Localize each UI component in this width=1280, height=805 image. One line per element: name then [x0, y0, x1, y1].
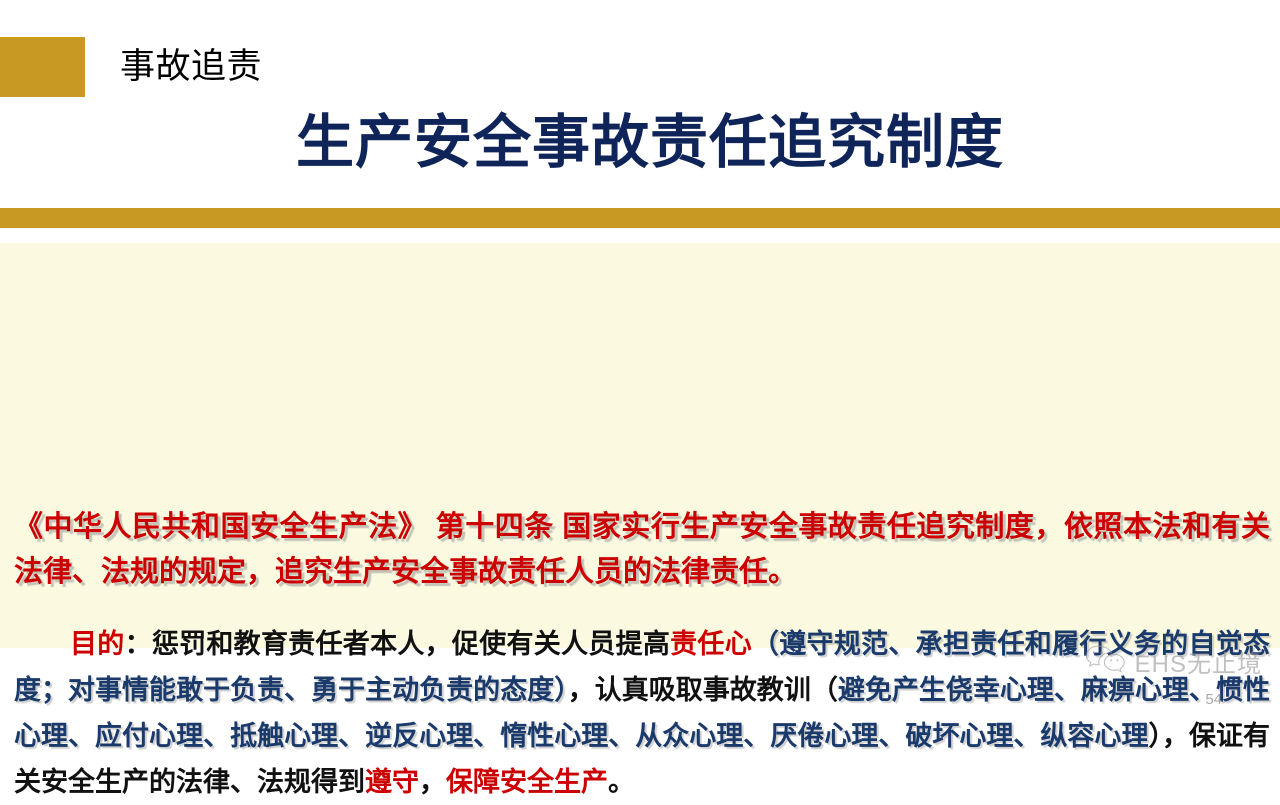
law-citation-text: 《中华人民共和国安全生产法》 第十四条 国家实行生产安全事故责任追究制度，依照本…	[14, 505, 1270, 595]
purpose-segment-4: ，认真吸取事故教训（	[568, 675, 838, 705]
purpose-highlight-responsibility: 责任心	[670, 629, 752, 659]
page-title: 生产安全事故责任追究制度	[0, 106, 1280, 180]
purpose-segment-1: 惩罚和教育责任者本人，促使有关人员提高	[152, 629, 670, 659]
purpose-segment-8: ，	[419, 767, 446, 797]
purpose-colon: ：	[125, 629, 152, 659]
content-panel: 《中华人民共和国安全生产法》 第十四条 国家实行生产安全事故责任追究制度，依照本…	[0, 243, 1280, 648]
page-number: 54	[1205, 691, 1222, 708]
wechat-icon	[1083, 643, 1127, 680]
watermark-label: EHS无止境	[1135, 644, 1262, 679]
purpose-label: 目的	[70, 629, 125, 659]
gold-divider-rule	[0, 208, 1280, 228]
purpose-highlight-compliance: 遵守	[365, 767, 419, 797]
purpose-paragraph: 目的：惩罚和教育责任者本人，促使有关人员提高责任心（遵守规范、承担责任和履行义务…	[14, 621, 1270, 805]
section-kicker: 事故追责	[120, 38, 262, 96]
watermark: EHS无止境	[1083, 643, 1262, 680]
purpose-segment-10: 。	[608, 767, 635, 797]
slide-canvas: 事故追责 生产安全事故责任追究制度 《中华人民共和国安全生产法》 第十四条 国家…	[0, 0, 1280, 720]
header-accent-swatch	[0, 37, 85, 97]
purpose-highlight-safety: 保障安全生产	[446, 767, 608, 797]
